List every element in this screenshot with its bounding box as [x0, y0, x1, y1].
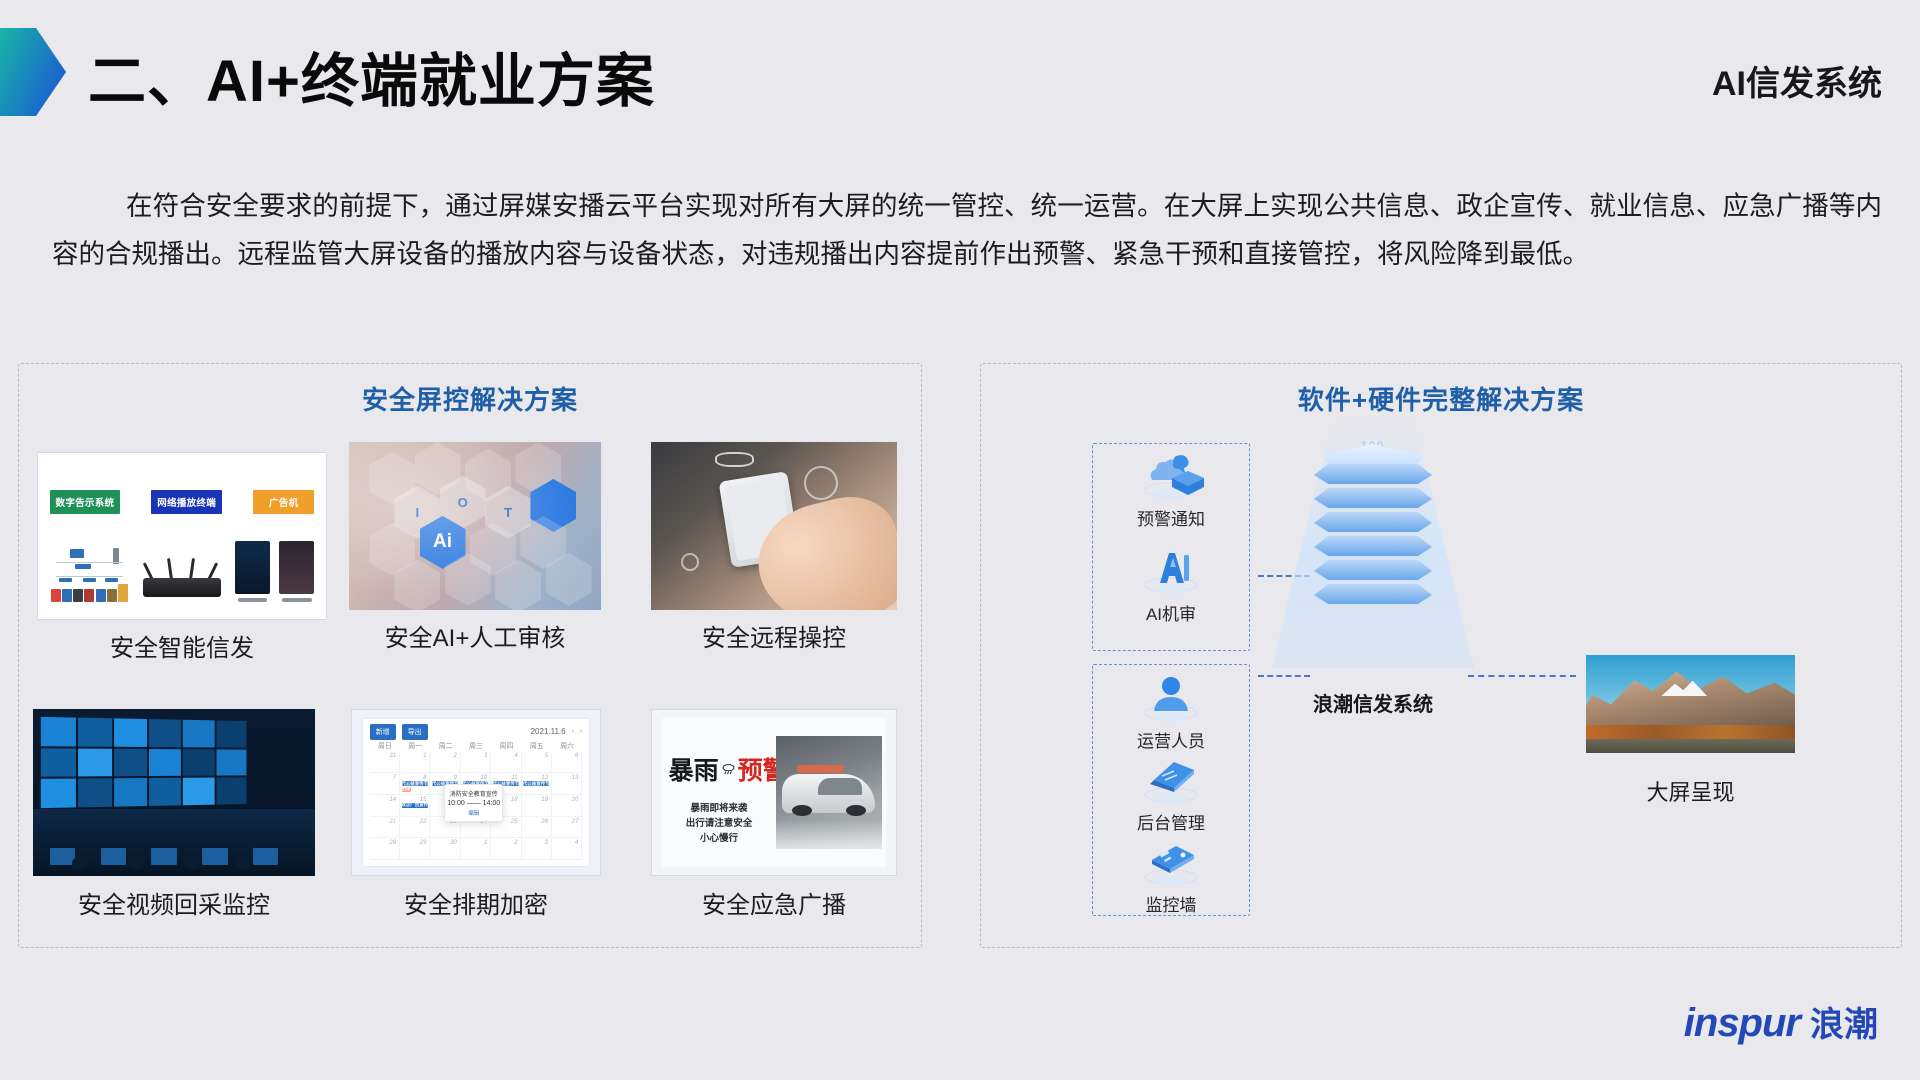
calendar-cell[interactable]: 4 — [552, 838, 582, 860]
card-emergency-broadcast[interactable]: 暴雨 预警 暴雨即将来袭 出行请注意安全 — [651, 709, 897, 876]
car-in-rain-photo — [776, 736, 882, 849]
ring-decor-1 — [804, 466, 838, 500]
calendar-cell[interactable]: 5 — [522, 751, 552, 773]
caption-remote-control: 安全远程操控 — [651, 618, 897, 653]
monitor-wall-icon — [1092, 836, 1250, 888]
calendar-cell[interactable]: 4 — [491, 751, 521, 773]
caption-emergency-broadcast: 安全应急广播 — [651, 885, 897, 920]
thumb-video-wall — [33, 709, 315, 876]
calendar-date-label: 2021.11.6 — [531, 727, 566, 736]
label-operator: 运营人员 — [1092, 727, 1250, 752]
cloud-rain-icon — [721, 753, 736, 764]
warning-poster: 暴雨 预警 暴雨即将来袭 出行请注意安全 — [662, 718, 887, 867]
poster-subtext: 暴雨即将来袭 出行请注意安全 小心慢行 — [662, 801, 776, 846]
calendar-cell[interactable]: 2 — [430, 751, 460, 773]
left-panel-title: 安全屏控解决方案 — [19, 380, 921, 417]
item-operator[interactable]: 运营人员 — [1092, 672, 1250, 752]
calendar-cell[interactable]: 2 — [491, 838, 521, 860]
calendar-cell[interactable]: 14 — [370, 795, 400, 817]
chevron-right-icon[interactable]: › — [580, 728, 582, 735]
calendar-cell[interactable]: 20 — [552, 795, 582, 817]
poster-title: 暴雨 预警 — [669, 751, 788, 787]
thumb-ai-hexagons: I O T Ai — [349, 442, 601, 610]
calendar-weekday-row: 周日 周一 周二 周三 周四 周五 周六 — [370, 741, 583, 751]
calendar-cell[interactable]: 21 — [370, 817, 400, 839]
calendar-cell[interactable]: 1 — [400, 751, 430, 773]
card-schedule-encrypt[interactable]: 新增 导出 2021.11.6 ‹ › 周日 周一 周二 周三 周四 周五 周六 — [351, 709, 601, 876]
signage-device-row — [50, 533, 315, 603]
system-name-label: AI信发系统 — [1712, 56, 1882, 105]
calendar-cell[interactable]: 26 — [522, 817, 552, 839]
header-arrow-icon — [0, 28, 66, 116]
weekday-sat: 周六 — [552, 741, 582, 751]
calendar-status-chip[interactable]: 待审 — [402, 787, 411, 792]
poster-line-3: 小心慢行 — [662, 831, 776, 846]
popup-time-start: 10:00 — [447, 800, 465, 807]
calendar-event-chip[interactable]: 政企广告宣传 — [402, 803, 428, 808]
caption-big-screen: 大屏呈现 — [1586, 775, 1795, 807]
card-remote-control[interactable]: 安全远程操控 — [651, 442, 897, 610]
poster-line-2: 出行请注意安全 — [662, 816, 776, 831]
calendar-add-button[interactable]: 新增 — [370, 724, 396, 740]
label-backend-admin: 后台管理 — [1092, 809, 1250, 834]
item-monitor-wall[interactable]: 监控墙 — [1092, 836, 1250, 916]
operator-person-icon — [1092, 672, 1250, 724]
hex-label-i: I — [416, 505, 420, 520]
big-screen-photo — [1586, 655, 1795, 753]
calendar-widget[interactable]: 新增 导出 2021.11.6 ‹ › 周日 周一 周二 周三 周四 周五 周六 — [362, 718, 590, 867]
calendar-cell[interactable]: 15 政企广告宣传 — [400, 795, 430, 817]
popup-edit-link[interactable]: 编辑 — [468, 809, 479, 817]
calendar-cell[interactable]: 3 — [461, 751, 491, 773]
calendar-cell[interactable]: 31 — [370, 751, 400, 773]
popup-time-range: 10:00 —— 14:00 — [447, 800, 500, 807]
page-title: 二、AI+终端就业方案 — [88, 34, 655, 118]
tag-network-player: 网络播放终端 — [151, 490, 222, 514]
kiosk-screens-graphic — [235, 541, 314, 602]
server-label: 浪潮信发系统 — [1268, 688, 1478, 717]
caption-digital-signage: 安全智能信发 — [37, 628, 327, 663]
right-panel-title: 软件+硬件完整解决方案 — [981, 380, 1901, 417]
thumb-digital-signage: 数字告示系统 网络播放终端 广告机 — [37, 452, 327, 620]
router-graphic — [140, 559, 225, 602]
weekday-fri: 周五 — [522, 741, 552, 751]
slide-canvas: 二、AI+终端就业方案 AI信发系统 在符合安全要求的前提下，通过屏媒安播云平台… — [0, 0, 1920, 1080]
caption-schedule-encrypt: 安全排期加密 — [351, 885, 601, 920]
calendar-cell[interactable]: 28 — [370, 838, 400, 860]
weekday-thu: 周四 — [491, 741, 521, 751]
video-wall-grid — [41, 717, 246, 808]
calendar-event-popup: 消防安全教育宣传 10:00 —— 14:00 编辑 — [444, 784, 503, 822]
alert-notification-icon — [1092, 450, 1250, 502]
signage-tag-row: 数字告示系统 网络播放终端 广告机 — [50, 490, 315, 514]
goggle-icon — [715, 452, 754, 467]
card-video-wall[interactable]: 安全视频回采监控 — [33, 709, 315, 876]
weekday-wed: 周三 — [461, 741, 491, 751]
tag-ad-machine: 广告机 — [253, 490, 314, 514]
calendar-cell[interactable]: 8 时代公益宣传节目 待审 — [400, 773, 430, 795]
inspur-logo: inspur 浪潮 — [1684, 997, 1878, 1046]
calendar-cell[interactable]: 13 — [552, 773, 582, 795]
label-ai-review: AI机审 — [1092, 600, 1250, 625]
item-alert-notification[interactable]: 预警通知 — [1092, 450, 1250, 530]
hex-label-t: T — [504, 505, 512, 520]
card-digital-signage[interactable]: 数字告示系统 网络播放终端 广告机 — [37, 452, 327, 620]
thumb-schedule-calendar: 新增 导出 2021.11.6 ‹ › 周日 周一 周二 周三 周四 周五 周六 — [351, 709, 601, 876]
calendar-event-chip[interactable]: 时代公益宣传节目 — [402, 781, 428, 786]
weekday-sun: 周日 — [370, 741, 400, 751]
calendar-cell[interactable]: 27 — [552, 817, 582, 839]
network-topology-graphic — [50, 548, 129, 602]
calendar-cell[interactable]: 12 时代公益宣传节目 — [522, 773, 552, 795]
label-monitor-wall: 监控墙 — [1092, 891, 1250, 916]
thumb-remote-phone — [651, 442, 897, 610]
popup-title: 消防安全教育宣传 — [450, 789, 498, 798]
popup-time-sep: —— — [467, 800, 481, 807]
connector-server-to-screen — [1468, 675, 1576, 677]
calendar-cell[interactable]: 3 — [522, 838, 552, 860]
calendar-cell[interactable]: 7 — [370, 773, 400, 795]
item-backend-admin[interactable]: 后台管理 — [1092, 754, 1250, 834]
hex-label-o: O — [458, 495, 468, 510]
calendar-cell[interactable]: 6 — [552, 751, 582, 773]
body-paragraph: 在符合安全要求的前提下，通过屏媒安播云平台实现对所有大屏的统一管控、统一运营。在… — [52, 182, 1882, 278]
hex-label-ai: Ai — [433, 531, 452, 553]
logo-cn-text: 浪潮 — [1810, 997, 1878, 1046]
control-desks — [33, 809, 315, 876]
item-ai-review[interactable]: AI机审 — [1092, 545, 1250, 625]
poster-line-1: 暴雨即将来袭 — [662, 801, 776, 816]
weekday-mon: 周一 — [400, 741, 430, 751]
calendar-cell[interactable]: 30 — [430, 838, 460, 860]
tag-digital-signage-system: 数字告示系统 — [50, 490, 121, 514]
server-tower-icon: 100 — [1268, 418, 1478, 698]
calendar-toolbar: 新增 导出 2021.11.6 ‹ › — [370, 724, 583, 740]
calendar-cell[interactable]: 19 — [522, 795, 552, 817]
hexagon-cluster: I O T Ai — [349, 442, 601, 610]
calendar-cell[interactable]: 29 — [400, 838, 430, 860]
ai-review-icon — [1092, 545, 1250, 597]
calendar-export-button[interactable]: 导出 — [402, 724, 428, 740]
poster-title-black: 暴雨 — [669, 757, 719, 785]
label-alert-notification: 预警通知 — [1092, 505, 1250, 530]
thumb-rainstorm-warning: 暴雨 预警 暴雨即将来袭 出行请注意安全 — [651, 709, 897, 876]
left-panel: 安全屏控解决方案 数字告示系统 网络播放终端 广告机 — [18, 363, 922, 948]
ring-decor-3 — [681, 553, 699, 571]
chevron-left-icon[interactable]: ‹ — [572, 728, 574, 735]
calendar-cell[interactable]: 1 — [461, 838, 491, 860]
card-ai-review[interactable]: I O T Ai 安全AI+人工审核 — [349, 442, 601, 610]
calendar-cell[interactable]: 22 — [400, 817, 430, 839]
caption-video-wall: 安全视频回采监控 — [33, 885, 315, 920]
laptop-admin-icon — [1092, 754, 1250, 806]
weekday-tue: 周二 — [430, 741, 460, 751]
logo-en-text: inspur — [1684, 1001, 1800, 1046]
popup-time-end: 14:00 — [483, 800, 501, 807]
caption-ai-review: 安全AI+人工审核 — [349, 618, 601, 653]
calendar-event-chip[interactable]: 时代公益宣传节目 — [523, 781, 549, 786]
